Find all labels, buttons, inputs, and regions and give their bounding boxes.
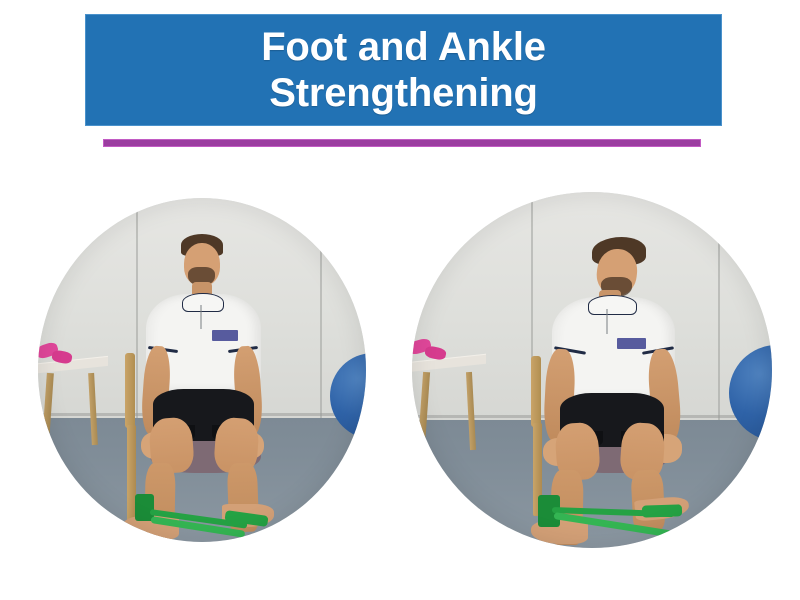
- photo-scene-left: [38, 198, 366, 542]
- shirt-placket: [200, 305, 202, 329]
- chair-backrest: [125, 353, 135, 429]
- resistance-band-wrap-right: [642, 505, 682, 518]
- end-position-photo: [412, 192, 772, 548]
- photo-scene-right: [412, 192, 772, 548]
- slide-canvas: Foot and Ankle Strengthening: [0, 0, 800, 600]
- page-title: Foot and Ankle Strengthening: [261, 24, 546, 117]
- shirt-collar: [182, 293, 223, 312]
- title-banner: Foot and Ankle Strengthening: [85, 14, 722, 126]
- shirt-logo: [212, 330, 238, 340]
- title-divider-rule: [103, 139, 701, 147]
- shirt-placket: [606, 309, 608, 334]
- chair-backrest: [531, 356, 541, 427]
- wall-seam: [136, 198, 138, 418]
- shirt-logo: [617, 338, 646, 349]
- wall-seam: [320, 198, 322, 418]
- start-position-photo: [38, 198, 366, 542]
- shirt-collar: [588, 295, 637, 315]
- wall-seam: [718, 192, 720, 420]
